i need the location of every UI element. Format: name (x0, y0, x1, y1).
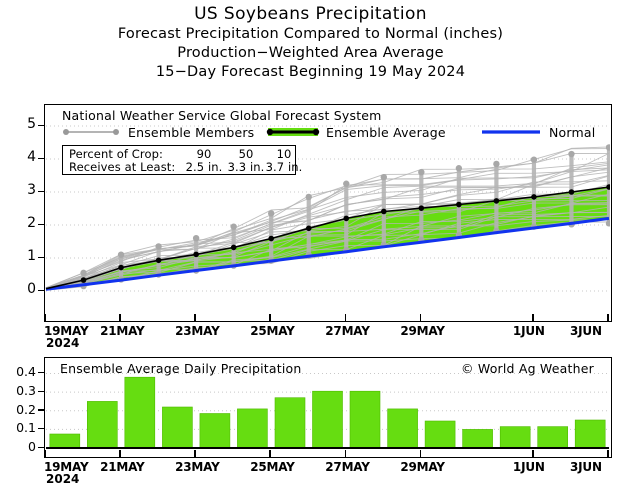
bar (87, 401, 117, 448)
y-tick-label-top: 3 (10, 182, 36, 198)
y-tick-label-top: 1 (10, 248, 36, 264)
x-tick-label-bottom: 3JUN (570, 460, 602, 474)
y-tick-label-top: 0 (10, 281, 36, 297)
crop-percent-50: 50 (225, 147, 267, 161)
crop-amount-label: Receives at Least: (69, 160, 175, 174)
y-tick-mark-bottom (38, 372, 45, 374)
legend-label-members: Ensemble Members (128, 125, 254, 140)
bar (50, 434, 80, 448)
x-tick-mark-bottom (269, 450, 271, 458)
y-tick-mark-top (38, 224, 45, 226)
bar (237, 409, 267, 448)
crop-percent-90: 90 (183, 147, 225, 161)
x-tick-label-top: 23MAY (175, 324, 219, 338)
x-tick-label-top: 1JUN (513, 324, 545, 338)
bar (500, 427, 530, 448)
x-tick-mark-top (119, 314, 121, 322)
legend-label-average: Ensemble Average (326, 125, 446, 140)
crop-percentile-box: Percent of Crop: 90 50 10 Receives at Le… (62, 145, 296, 175)
crop-amount-row: Receives at Least: 2.5 in. 3.3 in. 3.7 i… (63, 160, 297, 175)
y-tick-mark-top (38, 191, 45, 193)
x-tick-label-top: 29MAY (400, 324, 444, 338)
x-tick-mark-bottom (345, 450, 347, 458)
bar (388, 409, 418, 448)
x-axis-year-bottom: 2024 (46, 472, 79, 486)
x-tick-mark-bottom (532, 450, 534, 458)
x-tick-label-bottom: 29MAY (400, 460, 444, 474)
bar (275, 398, 305, 448)
crop-amount-90: 2.5 in. (183, 160, 225, 174)
crop-amount-50: 3.3 in. (225, 160, 267, 174)
x-tick-label-bottom: 1JUN (513, 460, 545, 474)
x-tick-label-bottom: 21MAY (100, 460, 144, 474)
y-tick-label-bottom: 0.4 (2, 364, 36, 379)
y-tick-mark-bottom (38, 391, 45, 393)
legend-label-normal: Normal (549, 125, 595, 140)
x-tick-mark-bottom (44, 450, 46, 458)
y-tick-mark-bottom (38, 428, 45, 430)
y-tick-label-bottom: 0 (2, 439, 36, 454)
x-tick-mark-bottom (194, 450, 196, 458)
bar (125, 377, 155, 448)
y-tick-label-top: 2 (10, 215, 36, 231)
x-tick-label-top: 3JUN (570, 324, 602, 338)
legend-row: Ensemble Members Ensemble Average Normal (62, 124, 607, 140)
crop-amount-10: 3.7 in. (263, 160, 305, 174)
bar (313, 391, 343, 448)
y-tick-mark-bottom (38, 447, 45, 449)
x-tick-mark-top (269, 314, 271, 322)
y-tick-label-top: 5 (10, 116, 36, 132)
y-tick-mark-top (38, 290, 45, 292)
x-tick-label-bottom: 23MAY (175, 460, 219, 474)
bar (463, 429, 493, 448)
y-axis-label-top: inches (0, 156, 1, 200)
x-tick-mark-top (44, 314, 46, 322)
legend-model-name: National Weather Service Global Forecast… (62, 108, 382, 123)
y-tick-label-bottom: 0.2 (2, 402, 36, 417)
copyright-credit: © World Ag Weather (461, 361, 594, 376)
y-tick-mark-top (38, 158, 45, 160)
subtitle-line-3: 15−Day Forecast Beginning 19 May 2024 (0, 63, 621, 82)
bar (200, 414, 230, 449)
y-tick-label-bottom: 0.3 (2, 383, 36, 398)
x-tick-mark-top (532, 314, 534, 322)
bar (425, 421, 455, 448)
x-tick-mark-top (607, 314, 609, 322)
bar (350, 391, 380, 448)
y-tick-label-top: 4 (10, 149, 36, 165)
chart-title-block: US Soybeans Precipitation Forecast Preci… (0, 4, 621, 82)
crop-percent-label: Percent of Crop: (69, 147, 163, 161)
x-axis-year-top: 2024 (46, 336, 79, 350)
x-tick-mark-bottom (119, 450, 121, 458)
subtitle-line-2: Production−Weighted Area Average (0, 44, 621, 63)
crop-percent-10: 10 (263, 147, 305, 161)
x-tick-mark-top (420, 314, 422, 322)
x-tick-mark-top (194, 314, 196, 322)
x-tick-label-top: 21MAY (100, 324, 144, 338)
y-tick-mark-top (38, 257, 45, 259)
x-tick-mark-bottom (420, 450, 422, 458)
bar (575, 420, 605, 448)
x-tick-label-top: 27MAY (325, 324, 369, 338)
x-tick-mark-bottom (607, 450, 609, 458)
y-axis-label-bottom: inches (0, 376, 1, 420)
x-tick-mark-top (345, 314, 347, 322)
x-tick-label-bottom: 25MAY (250, 460, 294, 474)
y-tick-mark-top (38, 125, 45, 127)
y-tick-label-bottom: 0.1 (2, 420, 36, 435)
daily-chart-subtitle: Ensemble Average Daily Precipitation (60, 361, 302, 376)
x-tick-label-bottom: 27MAY (325, 460, 369, 474)
x-tick-label-top: 25MAY (250, 324, 294, 338)
y-tick-mark-bottom (38, 409, 45, 411)
page-title: US Soybeans Precipitation (0, 4, 621, 25)
subtitle-line-1: Forecast Precipitation Compared to Norma… (0, 25, 621, 44)
bar (162, 407, 192, 448)
bar (538, 427, 568, 448)
